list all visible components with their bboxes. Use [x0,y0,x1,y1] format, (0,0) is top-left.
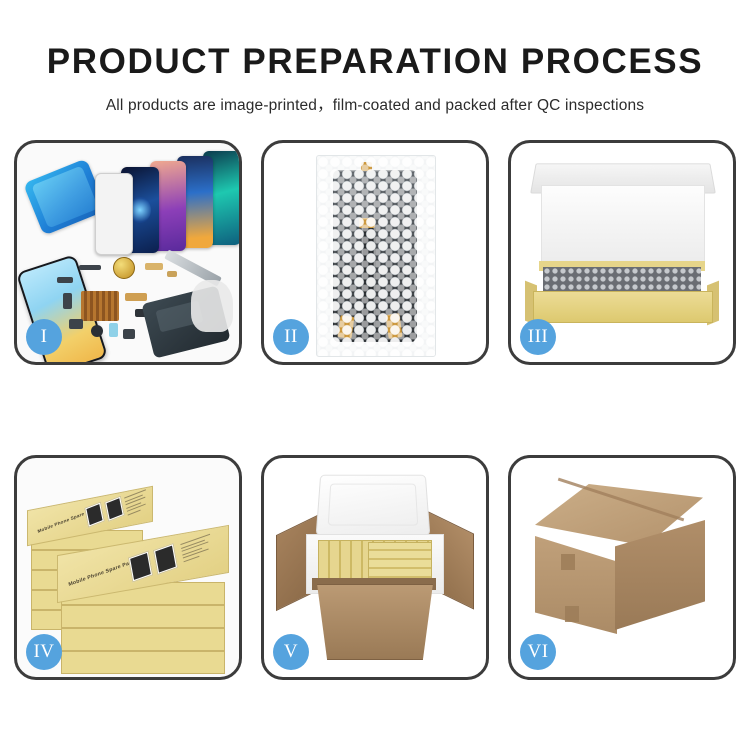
part-icon [69,319,83,329]
step-badge-5: V [273,634,309,670]
hand-icon [191,280,233,332]
box-label-text: Mobile Phone Spare Parts [68,558,137,588]
product-preparation-infographic: PRODUCT PREPARATION PROCESS All products… [0,0,750,750]
page-title: PRODUCT PREPARATION PROCESS [0,0,750,79]
carton-body [312,584,438,660]
step-badge-3: III [520,319,556,355]
foam-insert-icon [541,185,705,269]
step-panel-5: V [261,455,489,680]
box-art-swatch [153,543,178,575]
step-panel-2: II [261,140,489,365]
speaker-module-icon [113,257,135,279]
part-icon [125,293,147,301]
box-spec-lines [180,534,213,564]
carton-tab [565,606,579,622]
page-subtitle: All products are image-printed，film-coat… [0,79,750,115]
part-icon [167,271,177,277]
step-panel-6: VI [508,455,736,680]
step-panel-3: III [508,140,736,365]
part-icon [79,265,101,270]
step-panel-4: Mobile Phone Spare Parts Mobile [14,455,242,680]
part-icon [123,329,135,339]
styrofoam-lid-icon [316,475,431,536]
stacked-box [61,628,225,651]
box-spec-lines [124,489,150,517]
step-badge-2: II [273,319,309,355]
step-panel-1: I [14,140,242,365]
header: PRODUCT PREPARATION PROCESS All products… [0,0,750,115]
part-icon [145,263,163,270]
part-icon [109,323,118,337]
carton-tab [561,554,575,570]
process-steps-grid: I II [14,140,736,690]
step-badge-4: IV [26,634,62,670]
stacked-box [61,651,225,674]
stacked-box [61,605,225,628]
screen-glass-icon [95,173,133,255]
box-art-swatch [104,496,125,522]
yellow-box-front [533,291,713,323]
box-art-swatch [128,550,153,582]
phone-lineup [95,153,239,258]
step-badge-1: I [26,319,62,355]
bubble-texture-overlay [317,156,435,356]
part-icon [57,277,73,283]
box-stack: Mobile Phone Spare Parts Mobile [25,476,231,664]
step-badge-6: VI [520,634,556,670]
bubble-wrap-bag [316,155,436,357]
part-icon [63,293,72,309]
bubble-wrap-filler [543,267,701,293]
box-art-swatch [84,501,105,527]
part-icon [91,325,103,337]
screw-grid-icon [81,291,119,321]
